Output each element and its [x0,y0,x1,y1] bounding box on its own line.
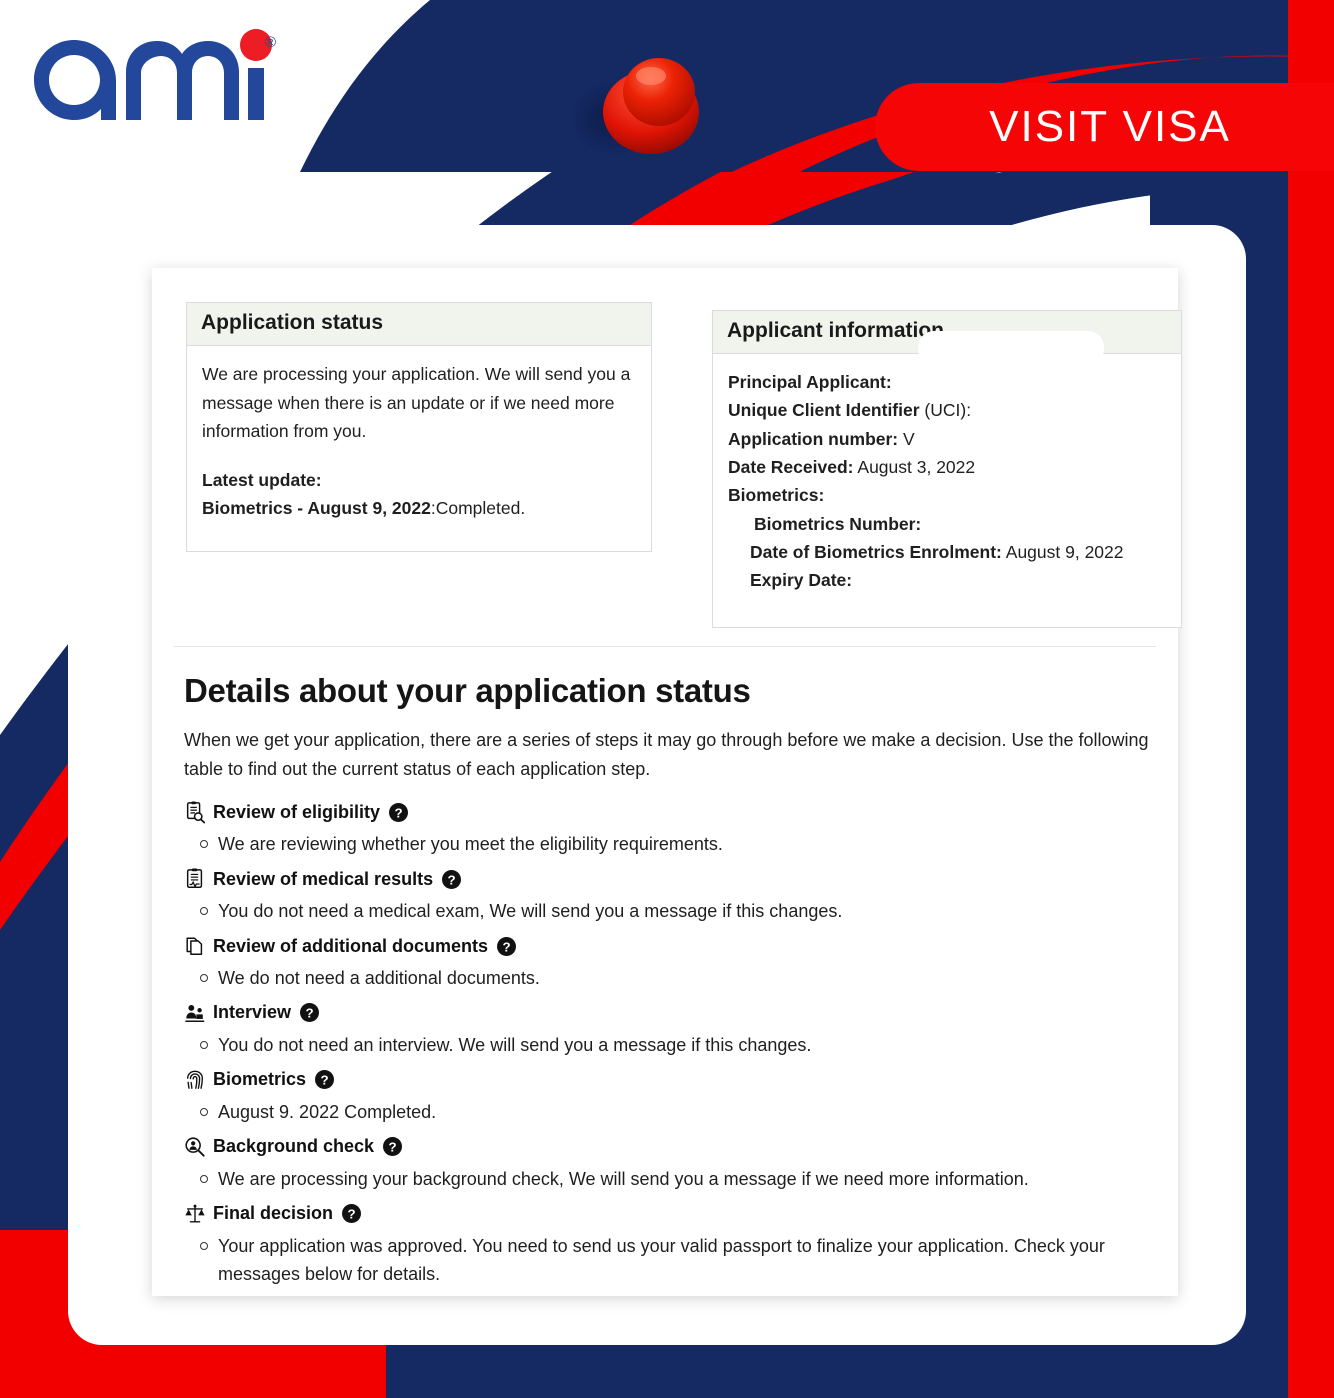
step-text: August 9. 2022 Completed. [218,1099,436,1127]
documents-copy-icon [184,934,206,958]
ami-logo-icon [22,10,272,135]
scales-icon [184,1202,206,1226]
field-label: Date Received: [728,457,853,477]
step-text: You do not need an interview. We will se… [218,1032,811,1060]
background-check-icon [184,1135,206,1159]
application-status-card: Application status We are processing you… [152,268,1178,1296]
field-application-number: Application number: V [728,425,1166,453]
step-label: Background check [213,1136,374,1157]
pushpin-icon [555,40,755,190]
svg-text:?: ? [347,1206,355,1221]
field-biometrics-number: Biometrics Number: [728,510,1166,538]
svg-text:?: ? [448,872,456,887]
bullet-icon [200,974,208,982]
field-label: Principal Applicant: [728,372,892,392]
fingerprint-icon [184,1068,206,1092]
step-text: You do not need a medical exam, We will … [218,898,842,926]
step-final-decision: Final decision ? Your application was ap… [184,1200,1149,1289]
clipboard-search-icon [184,800,206,824]
application-status-box: Application status We are processing you… [186,302,652,552]
field-value: August 9, 2022 [1006,542,1124,562]
step-label: Biometrics [213,1069,306,1090]
step-label: Review of medical results [213,869,433,890]
field-label: Biometrics Number: [754,514,921,534]
step-label: Final decision [213,1203,333,1224]
step-label: Review of additional documents [213,936,488,957]
bullet-icon [200,840,208,848]
details-section: Details about your application status Wh… [184,672,1149,1294]
redaction-overlay [918,331,1104,365]
step-review-of-medical-results: Review of medical results ? You do not n… [184,865,1149,926]
step-review-of-additional-documents: Review of additional documents ? We do n… [184,932,1149,993]
visit-visa-label: VISIT VISA [989,102,1231,152]
help-circle-icon[interactable]: ? [497,937,516,956]
field-biometrics: Biometrics: [728,481,1166,509]
step-label: Interview [213,1002,291,1023]
help-circle-icon[interactable]: ? [383,1137,402,1156]
field-value: V [903,429,915,449]
application-status-title: Application status [187,303,651,346]
red-right-strip [1288,170,1334,1398]
step-background-check: Background check ? We are processing you… [184,1133,1149,1194]
svg-text:?: ? [394,805,402,820]
latest-update-status: :Completed. [431,498,525,518]
interview-people-icon [184,1001,206,1025]
field-date-received: Date Received: August 3, 2022 [728,453,1166,481]
field-label: Expiry Date: [750,570,852,590]
visit-visa-badge: VISIT VISA [875,83,1334,171]
field-principal-applicant: Principal Applicant: [728,368,1166,396]
details-heading: Details about your application status [184,672,1149,710]
step-interview: Interview ? You do not need an interview… [184,999,1149,1060]
help-circle-icon[interactable]: ? [300,1003,319,1022]
step-text: We are processing your background check,… [218,1166,1029,1194]
bullet-icon [200,1242,208,1250]
details-intro: When we get your application, there are … [184,726,1149,784]
step-text: We do not need a additional documents. [218,965,540,993]
step-text: Your application was approved. You need … [218,1233,1123,1289]
help-circle-icon[interactable]: ? [315,1070,334,1089]
field-expiry-date: Expiry Date: [728,566,1166,594]
page-root: ® [0,0,1334,1398]
field-label: Unique Client Identifier [728,400,920,420]
brand-logo: ® [22,10,272,135]
field-uci: Unique Client Identifier (UCI): [728,396,1166,424]
section-divider [174,646,1156,647]
svg-text:?: ? [502,939,510,954]
registered-trademark-icon: ® [265,34,276,51]
bullet-icon [200,1108,208,1116]
step-biometrics: Biometrics ? August 9. 2022 Completed. [184,1066,1149,1127]
field-value: (UCI): [924,400,971,420]
field-label: Application number: [728,429,898,449]
bullet-icon [200,1041,208,1049]
latest-update-block: Latest update: Biometrics - August 9, 20… [202,466,636,523]
help-circle-icon[interactable]: ? [342,1204,361,1223]
svg-text:?: ? [305,1006,313,1021]
step-label: Review of eligibility [213,802,380,823]
field-value: August 3, 2022 [857,457,975,477]
step-text: We are reviewing whether you meet the el… [218,831,723,859]
latest-update-label: Latest update: [202,470,322,490]
bullet-icon [200,907,208,915]
field-label: Biometrics: [728,485,824,505]
step-review-of-eligibility: Review of eligibility ? We are reviewing… [184,798,1149,859]
svg-text:?: ? [389,1140,397,1155]
bullet-icon [200,1175,208,1183]
svg-text:?: ? [320,1073,328,1088]
field-biometrics-enrolment-date: Date of Biometrics Enrolment: August 9, … [728,538,1166,566]
medical-clipboard-icon [184,867,206,891]
applicant-information-box: Applicant information Principal Applican… [712,310,1182,628]
help-circle-icon[interactable]: ? [389,803,408,822]
latest-update-value: Biometrics - August 9, 2022 [202,498,431,518]
application-status-paragraph: We are processing your application. We w… [202,360,636,446]
field-label: Date of Biometrics Enrolment: [750,542,1002,562]
help-circle-icon[interactable]: ? [442,870,461,889]
